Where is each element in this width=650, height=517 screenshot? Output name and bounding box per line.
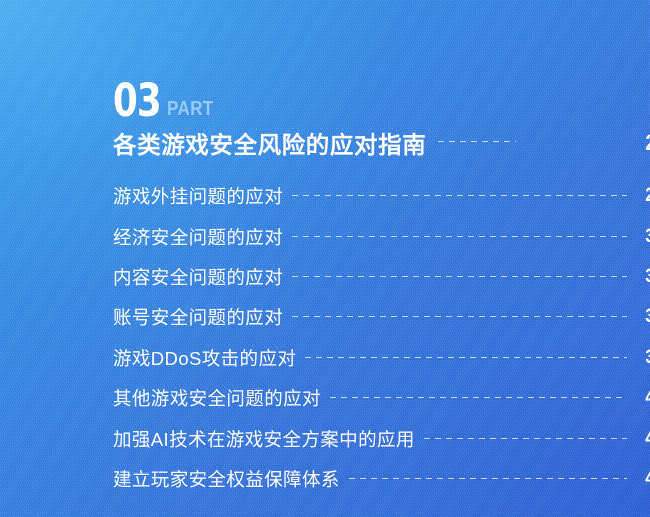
toc-row-3[interactable]: 内容安全问题的应对 33 bbox=[113, 262, 650, 292]
toc-item-label: 其他游戏安全问题的应对 bbox=[113, 385, 321, 411]
leader-line bbox=[330, 397, 627, 398]
leader-wrap bbox=[283, 276, 636, 279]
toc-item-label: 账号安全问题的应对 bbox=[113, 304, 283, 330]
part-word-label: PART bbox=[167, 99, 214, 119]
leader-line bbox=[292, 195, 627, 196]
toc-item-label: 经济安全问题的应对 bbox=[113, 224, 283, 250]
toc-item-page: 33 bbox=[645, 266, 650, 288]
leader-line bbox=[292, 316, 627, 317]
toc-item-page: 41 bbox=[645, 387, 650, 409]
leader-wrap bbox=[283, 236, 636, 239]
leader-line bbox=[349, 478, 627, 479]
toc-item-page: 36 bbox=[645, 306, 650, 328]
part-badge: 03 PART bbox=[113, 80, 222, 121]
leader-wrap bbox=[321, 397, 636, 400]
leader-wrap bbox=[283, 195, 636, 198]
slide-background: 03 PART 各类游戏安全风险的应对指南 28 游戏外挂问题的应对 28 经济… bbox=[0, 0, 650, 517]
toc-row-6[interactable]: 其他游戏安全问题的应对 41 bbox=[113, 383, 650, 413]
toc-item-page: 28 bbox=[645, 185, 650, 207]
toc-row-2[interactable]: 经济安全问题的应对 32 bbox=[113, 222, 650, 252]
toc-item-label: 游戏外挂问题的应对 bbox=[113, 183, 283, 209]
leader-wrap bbox=[340, 478, 636, 481]
toc-item-label: 加强AI技术在游戏安全方案中的应用 bbox=[113, 426, 415, 452]
toc-item-label: 游戏DDoS攻击的应对 bbox=[113, 345, 296, 371]
leader-line bbox=[424, 438, 627, 439]
toc-item-page: 43 bbox=[645, 468, 650, 490]
leader-wrap bbox=[415, 438, 636, 441]
toc-item-page: 32 bbox=[645, 226, 650, 248]
section-heading-row[interactable]: 各类游戏安全风险的应对指南 28 bbox=[113, 126, 650, 160]
part-number: 03 bbox=[113, 80, 161, 121]
toc-row-7[interactable]: 加强AI技术在游戏安全方案中的应用 42 bbox=[113, 424, 650, 454]
leader-line bbox=[305, 357, 627, 358]
leader-line bbox=[438, 141, 516, 142]
toc-item-page: 42 bbox=[645, 428, 650, 450]
toc-item-page: 38 bbox=[645, 347, 650, 369]
toc-row-4[interactable]: 账号安全问题的应对 36 bbox=[113, 302, 650, 332]
leader-wrap bbox=[296, 357, 636, 360]
toc-row-5[interactable]: 游戏DDoS攻击的应对 38 bbox=[113, 343, 650, 373]
toc-row-8[interactable]: 建立玩家安全权益保障体系 43 bbox=[113, 464, 650, 494]
toc-item-label: 内容安全问题的应对 bbox=[113, 264, 283, 290]
page-title: 各类游戏安全风险的应对指南 bbox=[113, 126, 426, 160]
slide-content: 03 PART 各类游戏安全风险的应对指南 28 游戏外挂问题的应对 28 经济… bbox=[0, 0, 650, 517]
leader-line bbox=[292, 276, 627, 277]
page-number: 28 bbox=[645, 130, 650, 156]
toc-row-1[interactable]: 游戏外挂问题的应对 28 bbox=[113, 181, 650, 211]
toc-item-label: 建立玩家安全权益保障体系 bbox=[113, 466, 340, 492]
leader-line bbox=[292, 236, 627, 237]
leader-wrap bbox=[283, 316, 636, 319]
